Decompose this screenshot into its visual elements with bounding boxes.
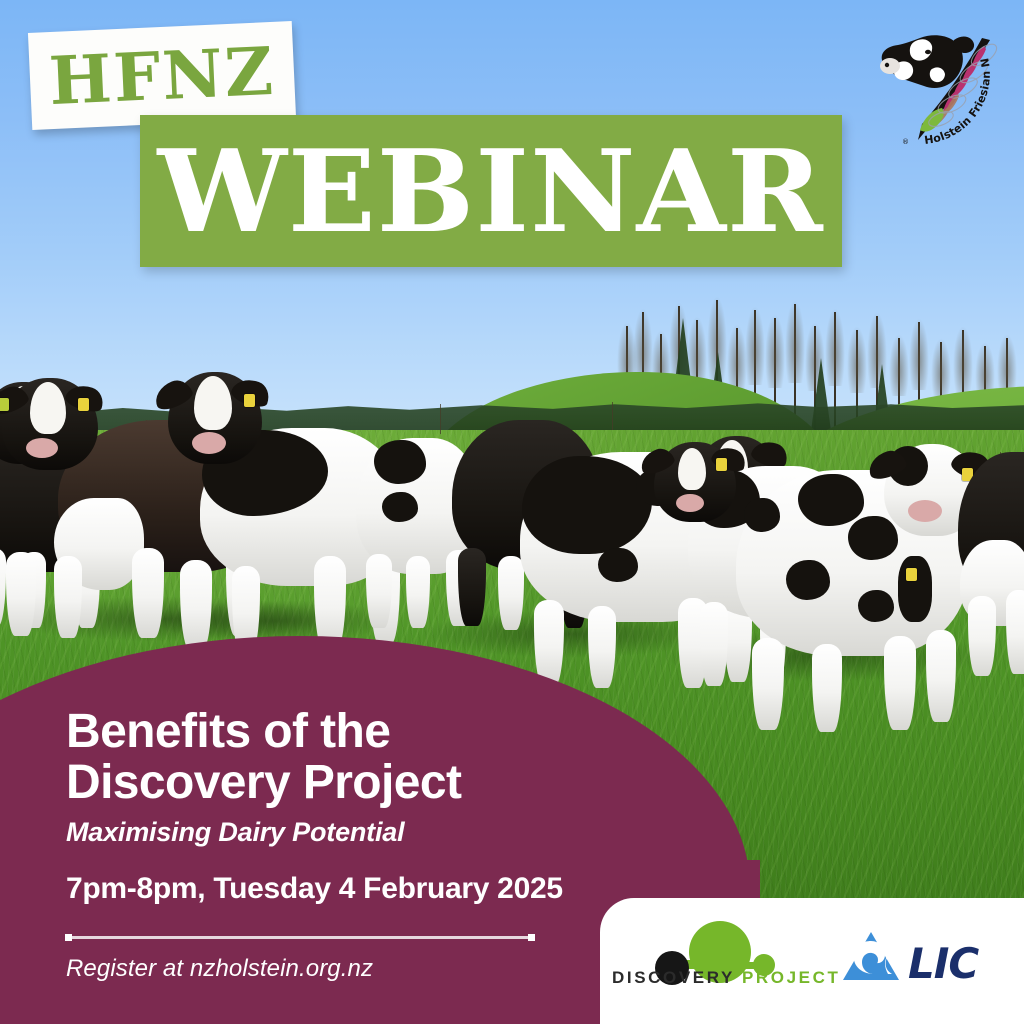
- lic-triskelion-icon: [843, 932, 899, 980]
- event-subtitle: Maximising Dairy Potential: [66, 817, 586, 848]
- webinar-banner-label: WEBINAR: [158, 135, 824, 248]
- dp-word-discovery: DISCOVERY: [612, 968, 735, 987]
- event-copy: Benefits of the Discovery Project Maximi…: [66, 706, 586, 906]
- hfnz-tag: HFNZ: [28, 21, 296, 130]
- hfnz-tag-label: HFNZ: [48, 37, 276, 113]
- discovery-project-logo: [610, 918, 816, 1002]
- divider: [66, 936, 534, 939]
- dp-word-project: PROJECT: [742, 968, 841, 987]
- title-line-1: Benefits of the: [66, 705, 390, 758]
- holstein-friesian-nz-logo: Holstein Friesian NZ ®: [862, 24, 1010, 150]
- page-title: Benefits of the Discovery Project: [66, 706, 586, 809]
- webinar-poster: HFNZ WEBINAR: [0, 0, 1024, 1024]
- registered-mark: ®: [902, 138, 909, 146]
- webinar-banner: WEBINAR: [140, 115, 842, 267]
- register-text[interactable]: Register at nzholstein.org.nz: [66, 955, 586, 983]
- lic-logo: LIC: [840, 930, 1000, 992]
- lic-wordmark: LIC: [908, 939, 979, 988]
- title-line-2: Discovery Project: [66, 756, 461, 809]
- event-datetime: 7pm-8pm, Tuesday 4 February 2025: [66, 872, 586, 906]
- discovery-project-wordmark: DISCOVERY PROJECT: [612, 968, 814, 988]
